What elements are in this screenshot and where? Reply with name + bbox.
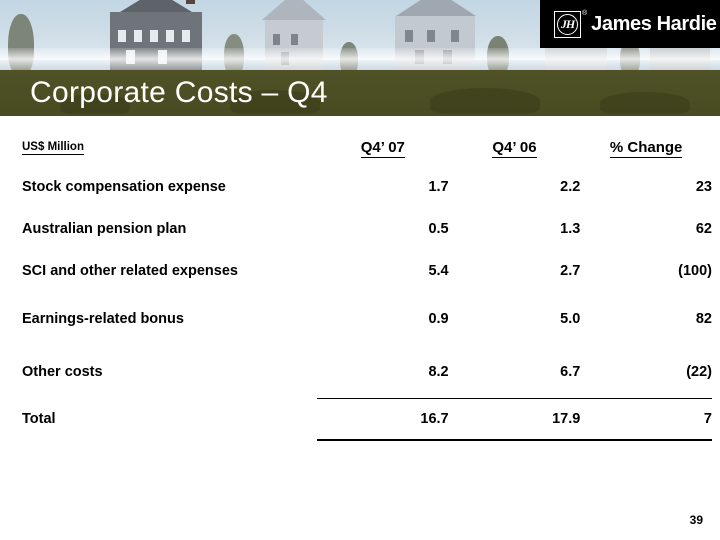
jh-monogram-text: JH [561,18,574,30]
row-value-pct-change: 23 [580,166,712,208]
banner-haze [0,48,720,70]
table-total-row: Total 16.7 17.9 7 [22,399,712,439]
total-label: Total [22,399,317,439]
table-row: Earnings-related bonus 0.9 5.0 82 [22,292,712,345]
jh-monogram-icon: JH [554,11,581,38]
total-value-q4-06: 17.9 [449,399,581,439]
table-row: Other costs 8.2 6.7 (22) [22,345,712,398]
row-value-q4-06: 1.3 [449,208,581,250]
row-value-q4-07: 1.7 [317,166,449,208]
page-title: Corporate Costs – Q4 [30,77,328,109]
slide-page-number: 39 [690,513,703,527]
table-row: Australian pension plan 0.5 1.3 62 [22,208,712,250]
james-hardie-logo: JH ® James Hardie [540,0,720,48]
row-value-q4-06: 2.7 [449,250,581,292]
corporate-costs-table: US$ Million Q4’ 07 Q4’ 06 % Change Stock… [0,128,720,441]
chimney [186,0,195,4]
column-header-text: Q4’ 07 [361,139,405,158]
column-header-unit: US$ Million [22,128,317,166]
house-roof [120,0,192,12]
table-row: SCI and other related expenses 5.4 2.7 (… [22,250,712,292]
house-roof [262,0,326,20]
row-value-q4-07: 0.5 [317,208,449,250]
row-value-q4-06: 5.0 [449,292,581,345]
brand-name-text: James Hardie [591,13,716,36]
row-label: Other costs [22,345,317,398]
row-value-pct-change: (100) [580,250,712,292]
table-row: Stock compensation expense 1.7 2.2 23 [22,166,712,208]
column-header-text: % Change [610,139,683,158]
unit-label-text: US$ Million [22,141,84,155]
row-value-q4-07: 8.2 [317,345,449,398]
row-label: SCI and other related expenses [22,250,317,292]
table-rule-below-total [22,439,712,440]
row-value-q4-07: 0.9 [317,292,449,345]
column-header-text: Q4’ 06 [492,139,536,158]
row-label: Stock compensation expense [22,166,317,208]
row-label: Australian pension plan [22,208,317,250]
registered-trademark-icon: ® [582,10,587,17]
total-value-q4-07: 16.7 [317,399,449,439]
total-value-pct-change: 7 [580,399,712,439]
row-value-pct-change: 82 [580,292,712,345]
column-header-q4-07: Q4’ 07 [317,128,449,166]
row-label: Earnings-related bonus [22,292,317,345]
row-value-pct-change: (22) [580,345,712,398]
column-header-pct-change: % Change [580,128,712,166]
table-header-row: US$ Million Q4’ 07 Q4’ 06 % Change [22,128,712,166]
row-value-q4-07: 5.4 [317,250,449,292]
column-header-q4-06: Q4’ 06 [449,128,581,166]
row-value-pct-change: 62 [580,208,712,250]
row-value-q4-06: 2.2 [449,166,581,208]
row-value-q4-06: 6.7 [449,345,581,398]
house-roof [396,0,476,16]
